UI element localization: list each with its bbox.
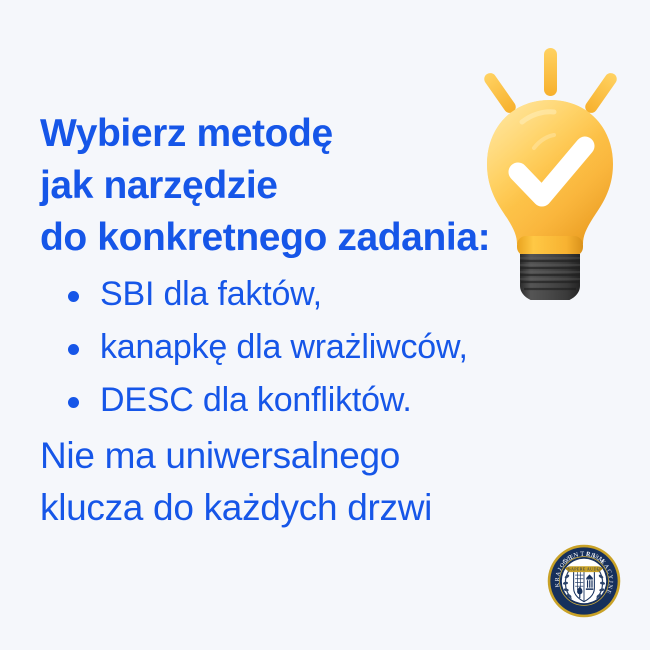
lightbulb-icon <box>470 40 630 300</box>
list-item: kanapkę dla wrażliwców, <box>40 321 560 374</box>
bullet-dot-icon <box>68 344 79 355</box>
bulb-shine <box>487 100 613 244</box>
list-item-label: SBI dla faktów, <box>100 275 322 313</box>
seal-banner-text: SAPERE AUDE <box>568 567 599 572</box>
list-item: DESC dla konfliktów. <box>40 374 560 427</box>
seal-banner: SAPERE AUDE <box>565 566 603 572</box>
list-item-label: kanapkę dla wrażliwców, <box>100 328 468 366</box>
organization-logo: CENTRUM KRAJOWE EDUKACYJNE <box>547 544 621 618</box>
closing-statement: Nie ma uniwersalnego klucza do każdych d… <box>40 430 560 534</box>
bulb-neck <box>517 236 583 256</box>
bullet-dot-icon <box>68 291 79 302</box>
bulb-screw-base <box>520 254 580 300</box>
closing-line-1: Nie ma uniwersalnego <box>40 430 560 482</box>
bullet-dot-icon <box>68 397 79 408</box>
poster-canvas: Wybierz metodę jak narzędzie do konkretn… <box>0 0 650 650</box>
list-item-label: DESC dla konfliktów. <box>100 381 412 419</box>
closing-line-2: klucza do każdych drzwi <box>40 482 560 534</box>
